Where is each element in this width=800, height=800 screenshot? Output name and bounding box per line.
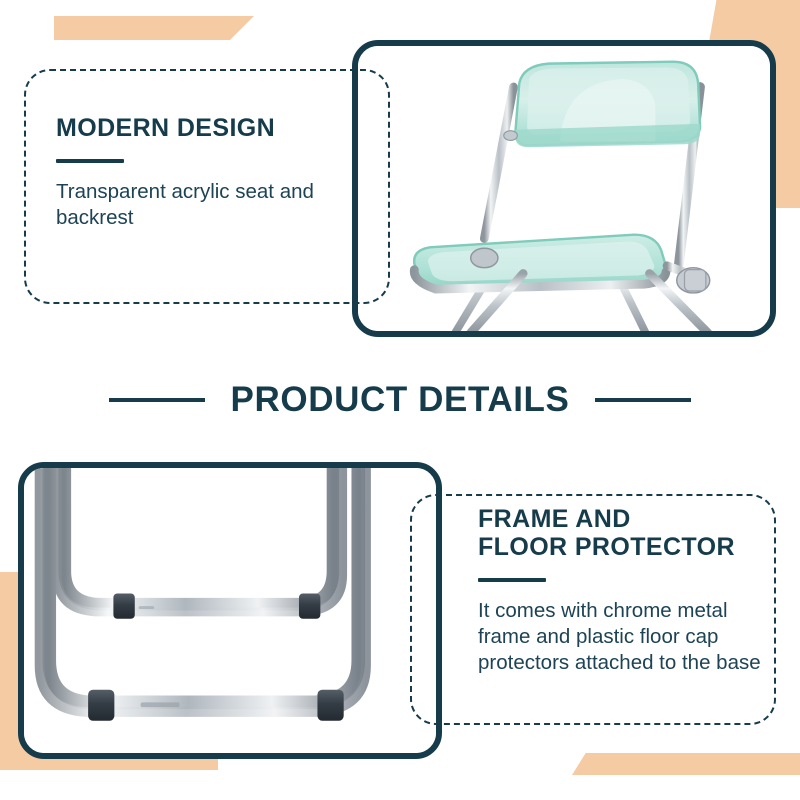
feature-heading-frame-protector-line2: FLOOR PROTECTOR	[478, 533, 768, 561]
floor-cap-upper-left	[113, 593, 134, 618]
peach-accent-bottom-right	[572, 753, 800, 775]
feature-body-modern-design: Transparent acrylic seat and backrest	[56, 179, 356, 231]
product-image-card-modern-design	[352, 40, 776, 337]
section-title-text: PRODUCT DETAILS	[231, 380, 570, 420]
section-heading-product-details: PRODUCT DETAILS	[0, 370, 800, 430]
floor-cap-upper-right	[299, 593, 320, 618]
product-image-card-frame-detail	[18, 462, 442, 759]
floor-cap-lower-left	[88, 690, 114, 721]
feature-text-modern-design: MODERN DESIGN Transparent acrylic seat a…	[56, 114, 356, 231]
infographic-canvas: MODERN DESIGN Transparent acrylic seat a…	[0, 0, 800, 800]
section-rule-right	[595, 398, 691, 402]
chrome-frame-floor-protector-illustration	[24, 468, 436, 753]
feature-heading-frame-protector-line1: FRAME AND	[478, 505, 768, 533]
feature-body-frame-protector: It comes with chrome metal frame and pla…	[478, 598, 768, 676]
feature-text-frame-protector: FRAME AND FLOOR PROTECTOR It comes with …	[478, 505, 768, 676]
heading-divider-modern-design	[56, 159, 124, 163]
feature-heading-modern-design: MODERN DESIGN	[56, 114, 356, 142]
acrylic-folding-chair-illustration	[358, 46, 770, 331]
floor-cap-lower-right	[317, 690, 343, 721]
peach-accent-top-left	[54, 16, 254, 40]
heading-divider-frame-protector	[478, 578, 546, 582]
section-rule-left	[109, 398, 205, 402]
